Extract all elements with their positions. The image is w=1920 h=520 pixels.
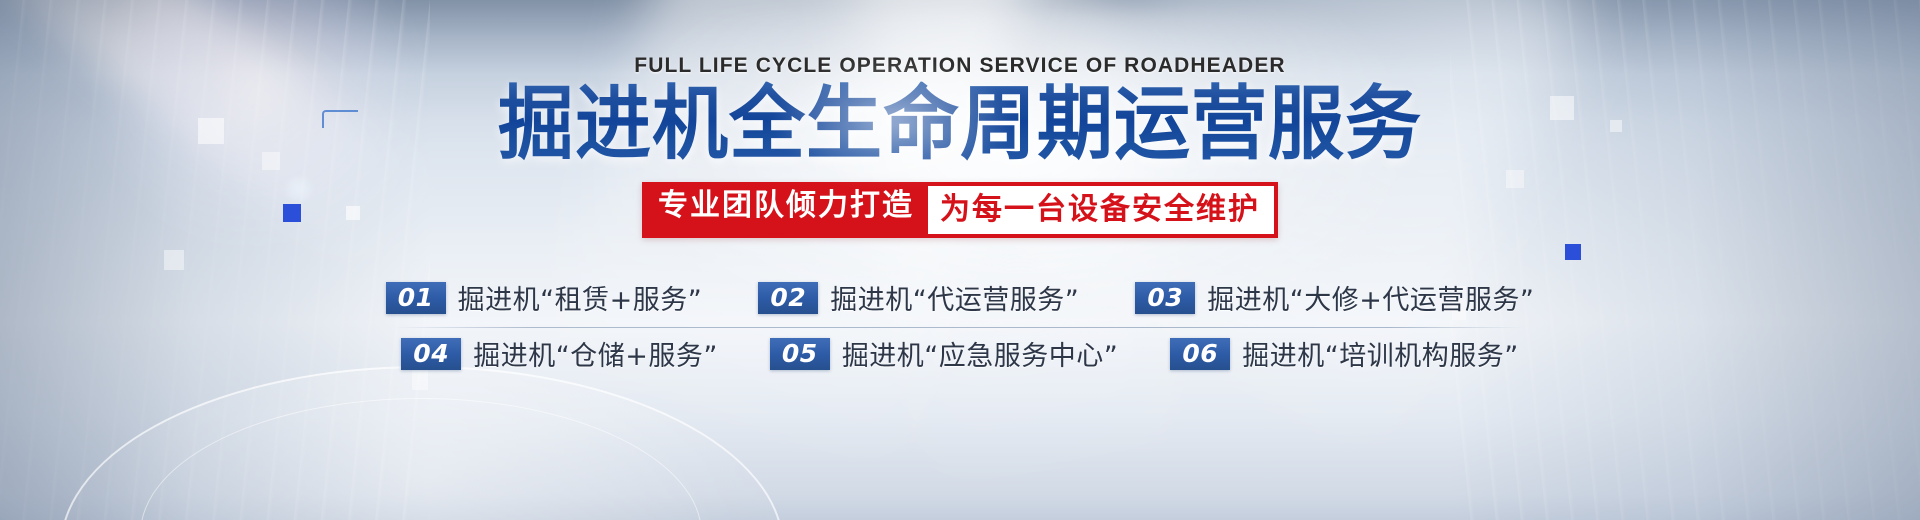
- service-number-badge: 04: [401, 338, 461, 370]
- main-headline: 掘进机全生命周期运营服务: [498, 82, 1422, 167]
- service-row-2: 04 掘进机“仓储+服务” 05 掘进机“应急服务中心” 06 掘进机“培训机构…: [401, 328, 1519, 383]
- service-number-badge: 06: [1170, 338, 1230, 370]
- service-item-02[interactable]: 02 掘进机“代运营服务”: [758, 278, 1079, 317]
- service-label: 掘进机“仓储+服务”: [473, 334, 718, 373]
- service-number-badge: 05: [770, 338, 830, 370]
- service-row-1: 01 掘进机“租赁+服务” 02 掘进机“代运营服务” 03 掘进机“大修+代运…: [386, 272, 1535, 327]
- service-number-badge: 03: [1135, 282, 1195, 314]
- service-list: 01 掘进机“租赁+服务” 02 掘进机“代运营服务” 03 掘进机“大修+代运…: [370, 272, 1550, 383]
- service-item-05[interactable]: 05 掘进机“应急服务中心”: [770, 334, 1118, 373]
- headline-wrapper: 掘进机全生命周期运营服务: [498, 78, 1422, 164]
- service-item-03[interactable]: 03 掘进机“大修+代运营服务”: [1135, 278, 1534, 317]
- english-tagline: FULL LIFE CYCLE OPERATION SERVICE OF ROA…: [634, 54, 1285, 78]
- slogan-bar: 专业团队倾力打造 为每一台设备安全维护: [642, 182, 1278, 238]
- service-number-badge: 02: [758, 282, 818, 314]
- service-item-01[interactable]: 01 掘进机“租赁+服务”: [386, 278, 703, 317]
- service-label: 掘进机“租赁+服务”: [458, 278, 703, 317]
- banner-content: FULL LIFE CYCLE OPERATION SERVICE OF ROA…: [0, 0, 1920, 520]
- service-number-badge: 01: [386, 282, 446, 314]
- service-item-04[interactable]: 04 掘进机“仓储+服务”: [401, 334, 718, 373]
- service-label: 掘进机“大修+代运营服务”: [1207, 278, 1534, 317]
- slogan-secondary: 为每一台设备安全维护: [928, 182, 1278, 238]
- service-item-06[interactable]: 06 掘进机“培训机构服务”: [1170, 334, 1518, 373]
- service-label: 掘进机“应急服务中心”: [842, 334, 1118, 373]
- roadheader-service-banner: FULL LIFE CYCLE OPERATION SERVICE OF ROA…: [0, 0, 1920, 520]
- service-label: 掘进机“代运营服务”: [830, 278, 1079, 317]
- slogan-primary: 专业团队倾力打造: [642, 182, 928, 238]
- service-label: 掘进机“培训机构服务”: [1242, 334, 1518, 373]
